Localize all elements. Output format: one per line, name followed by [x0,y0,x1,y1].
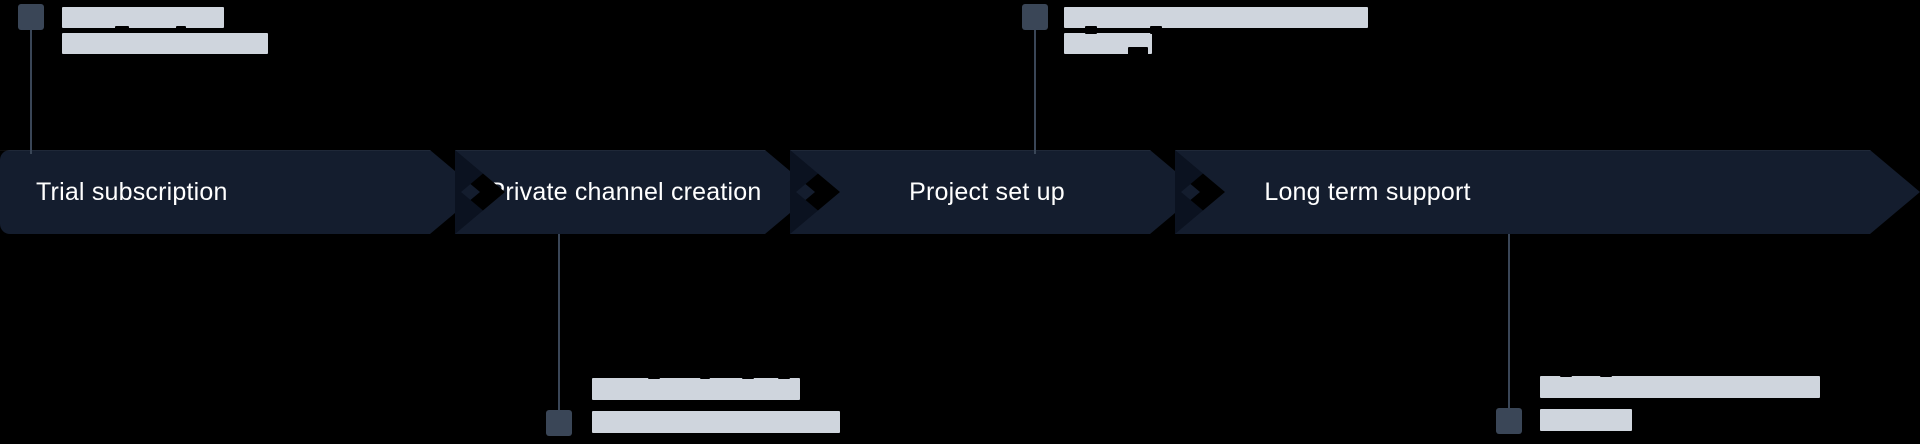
redaction-gap [1085,26,1097,34]
callout-connector-line [1034,26,1036,154]
redaction-gap [1128,47,1148,56]
redaction-gap [235,26,244,33]
flow-step-3-label: Project set up [782,180,1192,205]
callout-redacted-text-line-1 [62,7,224,28]
flow-step-1-label: Trial subscription [36,180,228,205]
redaction-gap [1150,26,1162,34]
callout-redacted-text-line-1 [592,378,800,400]
flow-step-1[interactable]: Trial subscription [0,150,480,234]
callout-connector-line [1508,234,1510,410]
redaction-gap [700,370,710,379]
callout-redacted-text-line-1 [1064,7,1368,28]
callout-redacted-text-line-2 [62,33,268,54]
callout-connector-line [30,26,32,154]
flow-step-4[interactable]: Long term support [1175,150,1920,234]
chevron-flow-band: Trial subscription Private channel creat… [0,150,1920,234]
redaction-gap [778,370,790,379]
callout-redacted-text-line-2 [592,411,840,433]
callout-redacted-text-line-1 [1540,376,1820,398]
redaction-gap [742,370,754,379]
redaction-gap [648,370,660,379]
callout-marker-icon[interactable] [546,410,572,436]
flow-step-2[interactable]: Private channel creation [455,150,815,234]
redaction-gap [176,26,186,33]
redaction-gap [1560,368,1572,377]
redaction-gap [1600,368,1612,377]
flow-step-3[interactable]: Project set up [790,150,1200,234]
callout-redacted-text-line-2 [1540,409,1632,431]
redaction-gap [115,26,129,33]
process-flow-diagram: Trial subscription Private channel creat… [0,0,1920,444]
callout-connector-line [558,234,560,414]
flow-step-2-label: Private channel creation [445,180,805,205]
callout-marker-icon[interactable] [1496,408,1522,434]
